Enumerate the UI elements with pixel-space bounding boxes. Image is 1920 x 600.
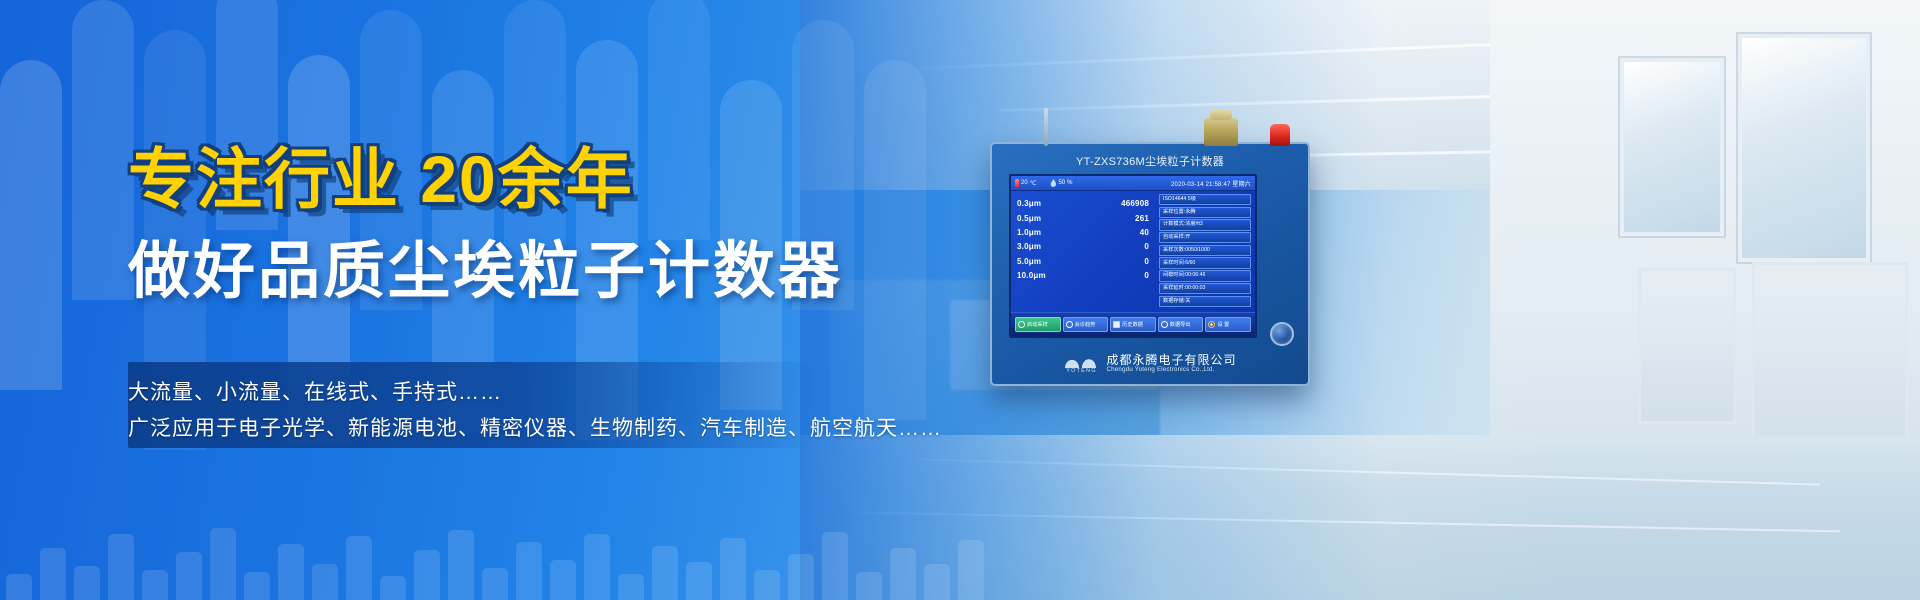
- particle-count: 0: [1144, 243, 1149, 251]
- device-model-label: YT-ZXS736M尘埃粒子计数器: [992, 153, 1308, 169]
- particle-size: 0.5μm: [1017, 215, 1041, 223]
- particle-size: 5.0μm: [1017, 258, 1041, 266]
- datetime-display: 2020-03-14 21:58:47 星期六: [1171, 179, 1251, 188]
- equalizer-footer-pattern: [0, 480, 1000, 600]
- list-item[interactable]: 采样次数:0050/1000: [1159, 245, 1251, 256]
- particle-count: 261: [1135, 215, 1149, 223]
- brand-block: YOTENG 成都永腾电子有限公司 Chengdu Yoteng Electro…: [992, 353, 1308, 374]
- table-row: 0.5μm 261: [1017, 211, 1149, 225]
- list-item[interactable]: 采样延时:00:00:03: [1159, 283, 1251, 294]
- humidity-status: 50 %: [1050, 179, 1072, 187]
- list-item[interactable]: 数据存储:关: [1159, 296, 1251, 307]
- table-row: 1.0μm 40: [1017, 226, 1149, 240]
- headline-secondary: 做好品质尘埃粒子计数器: [128, 220, 843, 310]
- list-item[interactable]: 自动采样:开: [1159, 232, 1251, 243]
- humidity-value: 50: [1058, 180, 1065, 186]
- temperature-value: 20: [1021, 180, 1028, 186]
- promo-banner: 专注行业 20余年 做好品质尘埃粒子计数器 大流量、小流量、在线式、手持式…… …: [0, 0, 1920, 600]
- settings-button[interactable]: 设 置: [1205, 317, 1251, 332]
- alarm-beacon-icon: [1270, 124, 1290, 146]
- sampling-probe-icon: [1204, 118, 1238, 146]
- lcd-status-bar: 20 ℃ 50 % 2020-03-14 21:58:47 星期六: [1011, 176, 1255, 191]
- trend-label: 会诊趋势: [1075, 321, 1096, 328]
- company-name-en: Chengdu Yoteng Electronics Co.,Ltd.: [1106, 366, 1236, 373]
- particle-size: 3.0μm: [1017, 243, 1041, 251]
- subtitle-line-2: 广泛应用于电子光学、新能源电池、精密仪器、生物制药、汽车制造、航空航天……: [128, 412, 942, 442]
- logo-arcs-icon: [1063, 353, 1099, 368]
- logo-wordmark: YOTENG: [1066, 368, 1096, 374]
- subtitle-line-1: 大流量、小流量、在线式、手持式……: [128, 376, 502, 406]
- table-row: 0.3μm 466908: [1017, 197, 1149, 211]
- headline-primary: 专注行业 20余年: [128, 126, 634, 222]
- trend-icon: [1066, 321, 1073, 328]
- particle-count: 466908: [1121, 200, 1149, 208]
- settings-label: 设 置: [1217, 321, 1229, 328]
- table-row: 5.0μm 0: [1017, 255, 1149, 269]
- company-name-block: 成都永腾电子有限公司 Chengdu Yoteng Electronics Co…: [1106, 354, 1236, 374]
- lcd-body: 0.3μm 466908 0.5μm 261 1.0μm 40 3.0μm 0: [1011, 191, 1255, 312]
- humidity-unit: %: [1067, 180, 1072, 186]
- company-logo: YOTENG: [1063, 353, 1099, 374]
- lcd-toolbar: 启动采样 会诊趋势 历史数据 数据导出 设 置: [1011, 312, 1255, 336]
- particle-count: 0: [1144, 272, 1149, 280]
- particle-count: 0: [1144, 258, 1149, 266]
- power-indicator[interactable]: [1270, 322, 1294, 346]
- temperature-status: 20 ℃: [1015, 179, 1036, 188]
- particle-counter-device: YT-ZXS736M尘埃粒子计数器 20 ℃ 50 % 2020-03-14 2…: [990, 142, 1310, 386]
- trend-button[interactable]: 会诊趋势: [1063, 317, 1109, 332]
- company-name-cn: 成都永腾电子有限公司: [1106, 354, 1236, 367]
- particle-size: 10.0μm: [1017, 272, 1046, 280]
- history-data-label: 历史数据: [1122, 321, 1143, 328]
- water-drop-icon: [1050, 179, 1056, 187]
- start-sampling-label: 启动采样: [1027, 321, 1048, 328]
- list-item[interactable]: 间歇时间:00:06:46: [1159, 270, 1251, 281]
- table-row: 3.0μm 0: [1017, 240, 1149, 254]
- particle-readings-table: 0.3μm 466908 0.5μm 261 1.0μm 40 3.0μm 0: [1017, 197, 1149, 283]
- particle-size: 0.3μm: [1017, 200, 1041, 208]
- list-item[interactable]: 采样时间:6/60: [1159, 257, 1251, 268]
- list-item[interactable]: ISO14644 5级: [1159, 194, 1251, 205]
- particle-size: 1.0μm: [1017, 229, 1041, 237]
- gear-icon: [1208, 321, 1215, 328]
- list-item[interactable]: 采样位置:永腾: [1159, 207, 1251, 218]
- particle-count: 40: [1140, 229, 1149, 237]
- list-item[interactable]: 计数模式:浓度/ft3: [1159, 219, 1251, 230]
- document-icon: [1113, 321, 1120, 328]
- export-data-label: 数据导出: [1170, 321, 1191, 328]
- thermometer-icon: [1015, 179, 1019, 188]
- settings-panel: ISO14644 5级 采样位置:永腾 计数模式:浓度/ft3 自动采样:开 采…: [1159, 194, 1251, 308]
- start-sampling-button[interactable]: 启动采样: [1015, 317, 1061, 332]
- history-data-button[interactable]: 历史数据: [1110, 317, 1156, 332]
- table-row: 10.0μm 0: [1017, 269, 1149, 283]
- record-icon: [1018, 321, 1025, 328]
- device-lcd-screen[interactable]: 20 ℃ 50 % 2020-03-14 21:58:47 星期六 0.3μm …: [1009, 174, 1257, 338]
- antenna-icon: [1044, 108, 1048, 146]
- temperature-unit: ℃: [1030, 180, 1037, 187]
- export-icon: [1161, 321, 1168, 328]
- export-data-button[interactable]: 数据导出: [1158, 317, 1204, 332]
